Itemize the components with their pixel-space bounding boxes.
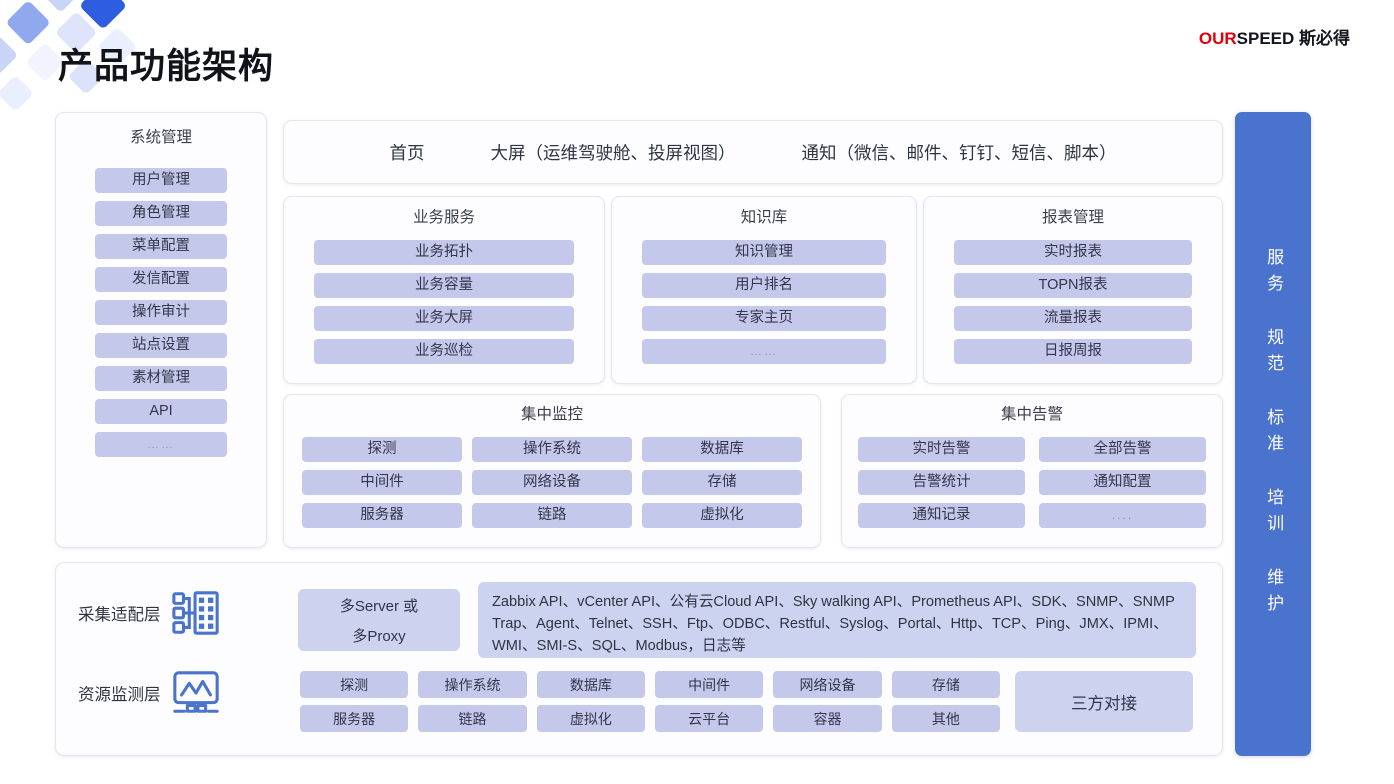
service-standard-sidebar: 服务 规范 标准 培训 维护 [1235, 112, 1311, 756]
centralized-monitoring-title: 集中监控 [284, 407, 820, 423]
system-management-title: 系统管理 [56, 130, 266, 146]
third-party-integration-chip: 三方对接 [1015, 671, 1193, 732]
alarm-item[interactable]: 实时告警 [858, 437, 1025, 462]
business-service-item[interactable]: 业务拓扑 [314, 240, 574, 265]
system-management-item[interactable]: 操作审计 [95, 300, 227, 325]
resource-monitoring-item[interactable]: 虚拟化 [537, 705, 645, 732]
brand-red-text: OUR [1199, 29, 1237, 48]
knowledge-base-item[interactable]: 知识管理 [642, 240, 886, 265]
monitoring-item[interactable]: 中间件 [302, 470, 462, 495]
multi-server-proxy-chip: 多Server 或 多Proxy [298, 589, 460, 651]
resource-monitoring-item[interactable]: 服务器 [300, 705, 408, 732]
top-nav-item[interactable]: 大屏（运维驾驶舱、投屏视图） [491, 140, 736, 165]
report-management-item[interactable]: 流量报表 [954, 306, 1192, 331]
brand-dark-text: SPEED 斯必得 [1237, 29, 1350, 48]
server-rack-icon [171, 587, 221, 639]
centralized-monitoring-panel: 集中监控 探测操作系统数据库中间件网络设备存储服务器链路虚拟化 [283, 394, 821, 548]
resource-monitoring-item[interactable]: 存储 [892, 671, 1000, 698]
knowledge-base-item[interactable]: 专家主页 [642, 306, 886, 331]
report-management-item[interactable]: TOPN报表 [954, 273, 1192, 298]
monitoring-item[interactable]: 服务器 [302, 503, 462, 528]
proxy-line-2: 多Proxy [352, 625, 405, 646]
resource-monitoring-item[interactable]: 容器 [773, 705, 881, 732]
monitoring-item[interactable]: 网络设备 [472, 470, 632, 495]
business-service-item[interactable]: 业务大屏 [314, 306, 574, 331]
business-service-item[interactable]: 业务容量 [314, 273, 574, 298]
report-management-item[interactable]: 实时报表 [954, 240, 1192, 265]
system-management-item[interactable]: 发信配置 [95, 267, 227, 292]
resource-monitoring-item[interactable]: 其他 [892, 705, 1000, 732]
monitoring-item[interactable]: 存储 [642, 470, 802, 495]
top-navigation-bar: 首页大屏（运维驾驶舱、投屏视图）通知（微信、邮件、钉钉、短信、脚本） [283, 120, 1223, 184]
proxy-line-1: 多Server 或 [340, 595, 418, 616]
business-service-item[interactable]: 业务巡检 [314, 339, 574, 364]
alarm-item[interactable]: 全部告警 [1039, 437, 1206, 462]
resource-monitoring-layer-row: 资源监测层 [78, 667, 221, 719]
resource-monitoring-item[interactable]: 操作系统 [418, 671, 526, 698]
brand-logo: OURSPEED 斯必得 [1199, 24, 1350, 49]
monitoring-item[interactable]: 数据库 [642, 437, 802, 462]
resource-monitoring-layer-label: 资源监测层 [78, 681, 161, 705]
report-management-list: 实时报表TOPN报表流量报表日报周报 [924, 240, 1222, 364]
report-management-panel: 报表管理 实时报表TOPN报表流量报表日报周报 [923, 196, 1223, 384]
service-standard-sidebar-label: 服务 规范 标准 培训 维护 [1260, 248, 1286, 620]
resource-monitoring-item[interactable]: 探测 [300, 671, 408, 698]
resource-monitoring-item[interactable]: 中间件 [655, 671, 763, 698]
resource-monitoring-item[interactable]: 云平台 [655, 705, 763, 732]
page-header: 产品功能架构 OURSPEED 斯必得 [0, 0, 1394, 108]
top-nav-item[interactable]: 通知（微信、邮件、钉钉、短信、脚本） [802, 140, 1117, 165]
knowledge-base-item[interactable]: …… [642, 339, 886, 364]
monitoring-item[interactable]: 虚拟化 [642, 503, 802, 528]
monitoring-item[interactable]: 探测 [302, 437, 462, 462]
system-management-item[interactable]: 用户管理 [95, 168, 227, 193]
centralized-alarm-panel: 集中告警 实时告警全部告警告警统计通知配置通知记录.... [841, 394, 1223, 548]
report-management-title: 报表管理 [924, 210, 1222, 226]
resource-monitoring-item[interactable]: 数据库 [537, 671, 645, 698]
resource-monitoring-item[interactable]: 链路 [418, 705, 526, 732]
page-title: 产品功能架构 [58, 38, 274, 89]
system-management-item[interactable]: 菜单配置 [95, 234, 227, 259]
monitor-chart-icon [171, 667, 221, 719]
collect-adaptation-layer-row: 采集适配层 [78, 587, 221, 639]
monitoring-item[interactable]: 操作系统 [472, 437, 632, 462]
system-management-item[interactable]: …… [95, 432, 227, 457]
centralized-alarm-grid: 实时告警全部告警告警统计通知配置通知记录.... [842, 437, 1222, 528]
resource-monitoring-item[interactable]: 网络设备 [773, 671, 881, 698]
system-management-item[interactable]: 角色管理 [95, 201, 227, 226]
alarm-item[interactable]: 通知配置 [1039, 470, 1206, 495]
centralized-monitoring-grid: 探测操作系统数据库中间件网络设备存储服务器链路虚拟化 [284, 437, 820, 528]
system-management-item[interactable]: API [95, 399, 227, 424]
business-service-list: 业务拓扑业务容量业务大屏业务巡检 [284, 240, 604, 364]
centralized-alarm-title: 集中告警 [842, 407, 1222, 423]
system-management-panel: 系统管理 用户管理角色管理菜单配置发信配置操作审计站点设置素材管理API…… [55, 112, 267, 548]
knowledge-base-panel: 知识库 知识管理用户排名专家主页…… [611, 196, 917, 384]
protocol-list-box: Zabbix API、vCenter API、公有云Cloud API、Sky … [478, 582, 1196, 658]
knowledge-base-list: 知识管理用户排名专家主页…… [612, 240, 916, 364]
system-management-list: 用户管理角色管理菜单配置发信配置操作审计站点设置素材管理API…… [56, 168, 266, 457]
alarm-item[interactable]: 告警统计 [858, 470, 1025, 495]
alarm-item[interactable]: 通知记录 [858, 503, 1025, 528]
resource-monitoring-grid: 探测操作系统数据库中间件网络设备存储服务器链路虚拟化云平台容器其他 [300, 671, 1000, 732]
monitoring-item[interactable]: 链路 [472, 503, 632, 528]
knowledge-base-item[interactable]: 用户排名 [642, 273, 886, 298]
business-service-panel: 业务服务 业务拓扑业务容量业务大屏业务巡检 [283, 196, 605, 384]
system-management-item[interactable]: 素材管理 [95, 366, 227, 391]
top-nav-item[interactable]: 首页 [390, 140, 425, 165]
alarm-item[interactable]: .... [1039, 503, 1206, 528]
business-service-title: 业务服务 [284, 210, 604, 226]
system-management-item[interactable]: 站点设置 [95, 333, 227, 358]
report-management-item[interactable]: 日报周报 [954, 339, 1192, 364]
collect-adaptation-layer-label: 采集适配层 [78, 601, 161, 625]
knowledge-base-title: 知识库 [612, 210, 916, 226]
